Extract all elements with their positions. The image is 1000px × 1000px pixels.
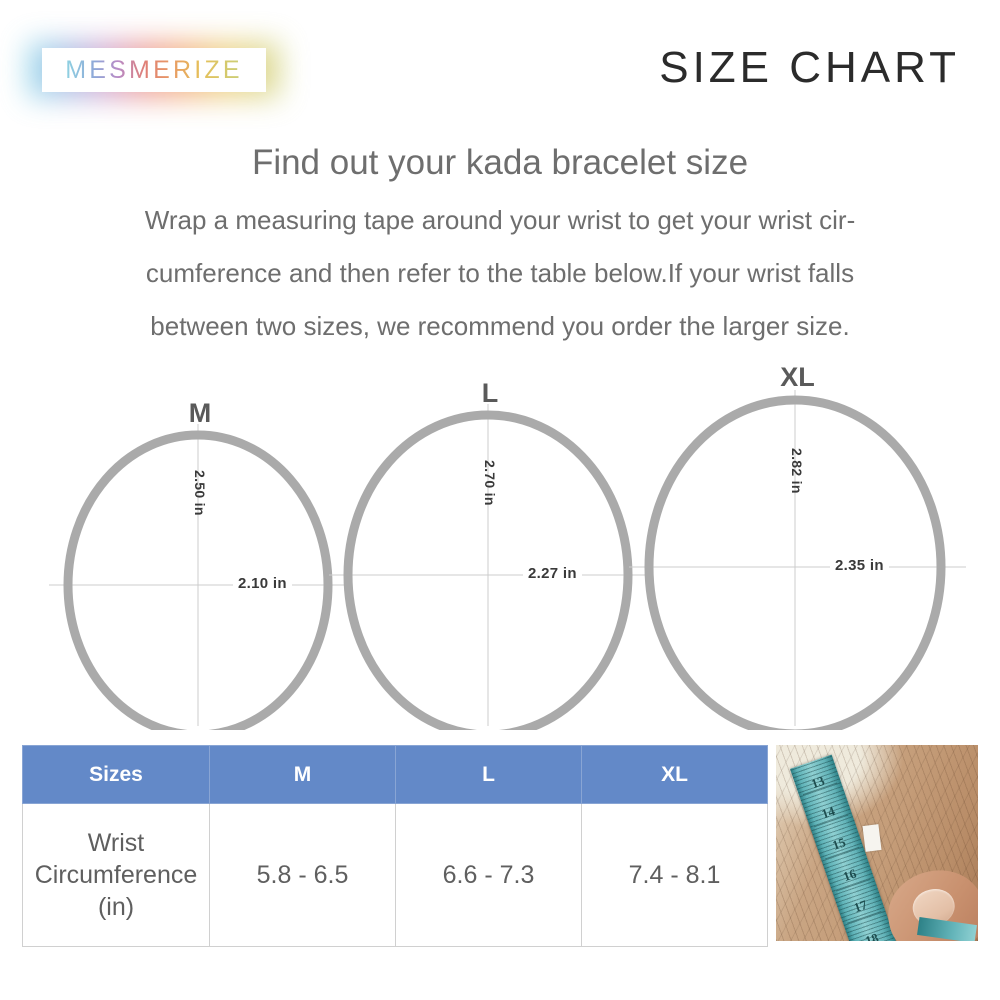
oval-width-label-xl: 2.35 in	[830, 557, 889, 574]
page-title: SIZE CHART	[659, 42, 960, 94]
oval-shape-xl	[625, 364, 970, 730]
oval-height-label-l: 2.70 in	[482, 460, 498, 506]
tape-white-marker	[862, 824, 881, 852]
intro-body-line-2: cumference and then refer to the table b…	[40, 247, 960, 300]
size-table-body: Wrist Circumference (in) 5.8 - 6.5 6.6 -…	[23, 804, 768, 947]
table-cell-xl: 7.4 - 8.1	[582, 804, 768, 947]
oval-group-xl: XL 2.82 in 2.35 in	[625, 364, 970, 730]
table-header-m: M	[210, 746, 396, 804]
logo-box: MESMERIZE	[42, 48, 266, 92]
intro-body: Wrap a measuring tape around your wrist …	[0, 194, 1000, 353]
table-header-l: L	[396, 746, 582, 804]
row-label-line-1: Wrist	[24, 827, 208, 859]
table-cell-m: 5.8 - 6.5	[210, 804, 396, 947]
logo-text: MESMERIZE	[65, 56, 242, 85]
intro-section: Find out your kada bracelet size Wrap a …	[0, 140, 1000, 353]
oval-shape-l	[325, 380, 655, 730]
intro-heading: Find out your kada bracelet size	[0, 140, 1000, 186]
table-header-row: Sizes M L XL	[23, 746, 768, 804]
row-label-line-3: (in)	[24, 891, 208, 923]
table-cell-row-label: Wrist Circumference (in)	[23, 804, 210, 947]
row-label-line-2: Circumference	[24, 859, 208, 891]
oval-shape-m	[45, 400, 355, 730]
oval-height-label-xl: 2.82 in	[789, 448, 805, 494]
table-cell-l: 6.6 - 7.3	[396, 804, 582, 947]
size-table: Sizes M L XL Wrist Circumference (in) 5.…	[22, 745, 768, 947]
intro-body-line-3: between two sizes, we recommend you orde…	[40, 300, 960, 353]
oval-width-label-l: 2.27 in	[523, 565, 582, 582]
table-header-sizes: Sizes	[23, 746, 210, 804]
oval-group-l: L 2.70 in 2.27 in	[325, 380, 655, 730]
oval-height-label-m: 2.50 in	[192, 470, 208, 516]
page-header: MESMERIZE SIZE CHART	[0, 0, 1000, 130]
size-table-head: Sizes M L XL	[23, 746, 768, 804]
wrist-measuring-photo: 13 14 15 16 17 18	[776, 745, 978, 941]
brand-logo: MESMERIZE	[28, 42, 280, 98]
oval-group-m: M 2.50 in 2.10 in	[45, 400, 355, 730]
table-row: Wrist Circumference (in) 5.8 - 6.5 6.6 -…	[23, 804, 768, 947]
oval-width-label-m: 2.10 in	[233, 575, 292, 592]
table-header-xl: XL	[582, 746, 768, 804]
oval-diagram-section: M 2.50 in 2.10 in L 2.70 in 2.27 in XL 2…	[0, 350, 1000, 740]
intro-body-line-1: Wrap a measuring tape around your wrist …	[40, 194, 960, 247]
